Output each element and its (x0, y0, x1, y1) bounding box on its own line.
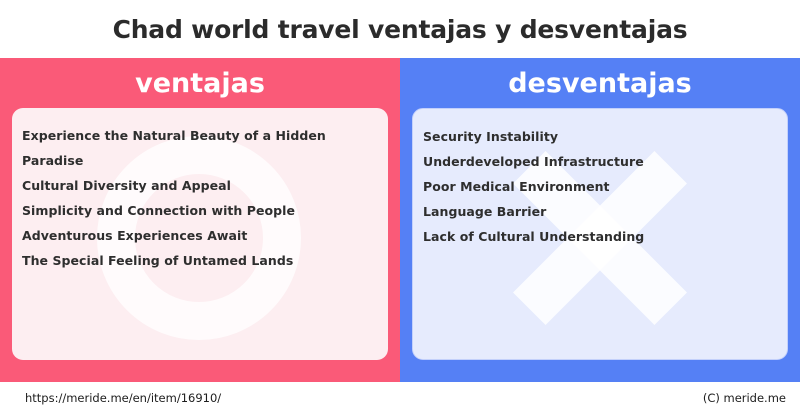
list-item: Adventurous Experiences Await (22, 223, 374, 248)
list-item: Language Barrier (423, 199, 773, 224)
columns-container: ventajas Experience the Natural Beauty o… (0, 58, 800, 382)
footer: https://meride.me/en/item/16910/ (C) mer… (0, 382, 800, 418)
cons-list: Security Instability Underdeveloped Infr… (413, 109, 787, 249)
list-item: Cultural Diversity and Appeal (22, 173, 374, 198)
copyright-label: (C) meride.me (703, 391, 786, 405)
list-item: Simplicity and Connection with People (22, 198, 374, 223)
source-url[interactable]: https://meride.me/en/item/16910/ (25, 391, 221, 405)
page-title: Chad world travel ventajas y desventajas (113, 17, 688, 42)
cons-column: desventajas Security Instability Underde… (400, 58, 800, 382)
list-item: The Special Feeling of Untamed Lands (22, 248, 374, 273)
list-item: Underdeveloped Infrastructure (423, 149, 773, 174)
pros-column: ventajas Experience the Natural Beauty o… (0, 58, 400, 382)
pros-card: Experience the Natural Beauty of a Hidde… (12, 108, 388, 360)
pros-heading-label: ventajas (135, 70, 265, 97)
title-bar: Chad world travel ventajas y desventajas (0, 0, 800, 58)
cons-card: Security Instability Underdeveloped Infr… (412, 108, 788, 360)
pros-header: ventajas (0, 58, 400, 108)
list-item: Poor Medical Environment (423, 174, 773, 199)
pros-list: Experience the Natural Beauty of a Hidde… (12, 108, 388, 273)
cons-heading-label: desventajas (508, 70, 692, 97)
pros-cons-infographic: Chad world travel ventajas y desventajas… (0, 0, 800, 418)
list-item: Experience the Natural Beauty of a Hidde… (22, 123, 374, 173)
cons-header: desventajas (400, 58, 800, 108)
list-item: Security Instability (423, 124, 773, 149)
list-item: Lack of Cultural Understanding (423, 224, 773, 249)
